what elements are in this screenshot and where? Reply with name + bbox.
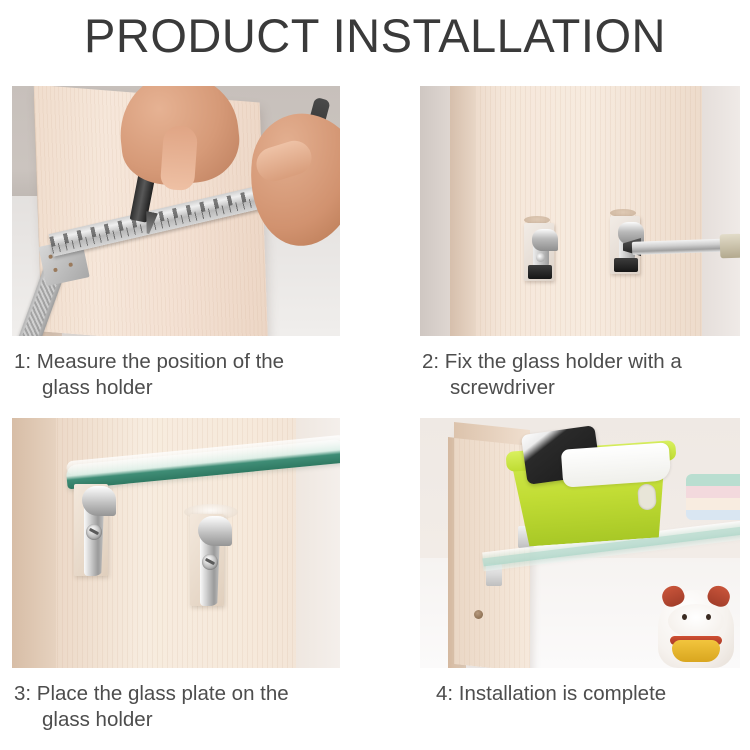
photo2-bracket-screw <box>536 253 545 262</box>
step-2-caption-line1: 2: Fix the glass holder with a <box>422 350 682 373</box>
photo2-wall-left <box>420 86 450 336</box>
step-3-caption-line2: glass holder <box>14 707 340 733</box>
photo1-rivet <box>68 262 73 267</box>
photo4-cat-bib <box>672 640 720 662</box>
photo4-white-item <box>561 442 671 487</box>
photo2-bracket-foot <box>614 258 638 272</box>
step-3-caption: 3: Place the glass plate on the glass ho… <box>12 681 340 733</box>
photo1-rivet <box>53 268 58 273</box>
step-4: 4: Installation is complete <box>420 418 740 707</box>
photo-measure-position <box>12 86 340 336</box>
steps-grid: 1: Measure the position of the glass hol… <box>0 86 750 746</box>
step-1: 1: Measure the position of the glass hol… <box>12 86 340 401</box>
step-3: 3: Place the glass plate on the glass ho… <box>12 418 340 733</box>
page-title: PRODUCT INSTALLATION <box>0 8 750 64</box>
step-3-caption-line1: 3: Place the glass plate on the <box>14 682 289 705</box>
photo4-mounting-hole <box>474 610 483 619</box>
photo3-holder-hook <box>82 486 116 516</box>
photo4-cat-face <box>668 604 724 638</box>
photo-installation-complete <box>420 418 740 668</box>
step-1-caption-line2: glass holder <box>14 375 340 401</box>
step-4-caption: 4: Installation is complete <box>420 681 740 707</box>
step-1-caption: 1: Measure the position of the glass hol… <box>12 349 340 401</box>
step-2: 2: Fix the glass holder with a screwdriv… <box>420 86 740 401</box>
photo2-glass-holder-bracket-left <box>524 223 554 281</box>
photo3-board-edge <box>12 418 56 668</box>
photo4-lucky-cat-figurine <box>658 590 734 668</box>
photo2-screwdriver-collar <box>720 234 740 259</box>
photo4-basket-handle-hole <box>637 483 657 510</box>
photo2-wooden-board <box>450 86 702 336</box>
step-2-caption-line2: screwdriver <box>422 375 740 401</box>
photo2-bracket-foot <box>528 265 552 279</box>
photo4-cat-eye-left <box>682 614 687 620</box>
photo2-bracket-arm <box>532 229 558 251</box>
step-4-caption-line1: 4: Installation is complete <box>436 682 666 705</box>
step-1-caption-line1: 1: Measure the position of the <box>14 350 284 373</box>
product-installation-page: PRODUCT INSTALLATION <box>0 0 750 750</box>
photo4-folded-towels <box>686 474 740 520</box>
photo1-left-hand-finger <box>160 125 198 191</box>
photo2-board-edge <box>450 86 476 336</box>
step-2-caption: 2: Fix the glass holder with a screwdriv… <box>420 349 740 401</box>
photo1-rivet <box>48 254 53 259</box>
photo-place-glass-plate <box>12 418 340 668</box>
photo3-glass-holder-left <box>74 484 114 578</box>
photo4-cat-eye-right <box>706 614 711 620</box>
photo-fix-holder-screwdriver <box>420 86 740 336</box>
photo3-glass-holder-right <box>190 514 230 608</box>
photo3-holder-hook <box>198 516 232 546</box>
